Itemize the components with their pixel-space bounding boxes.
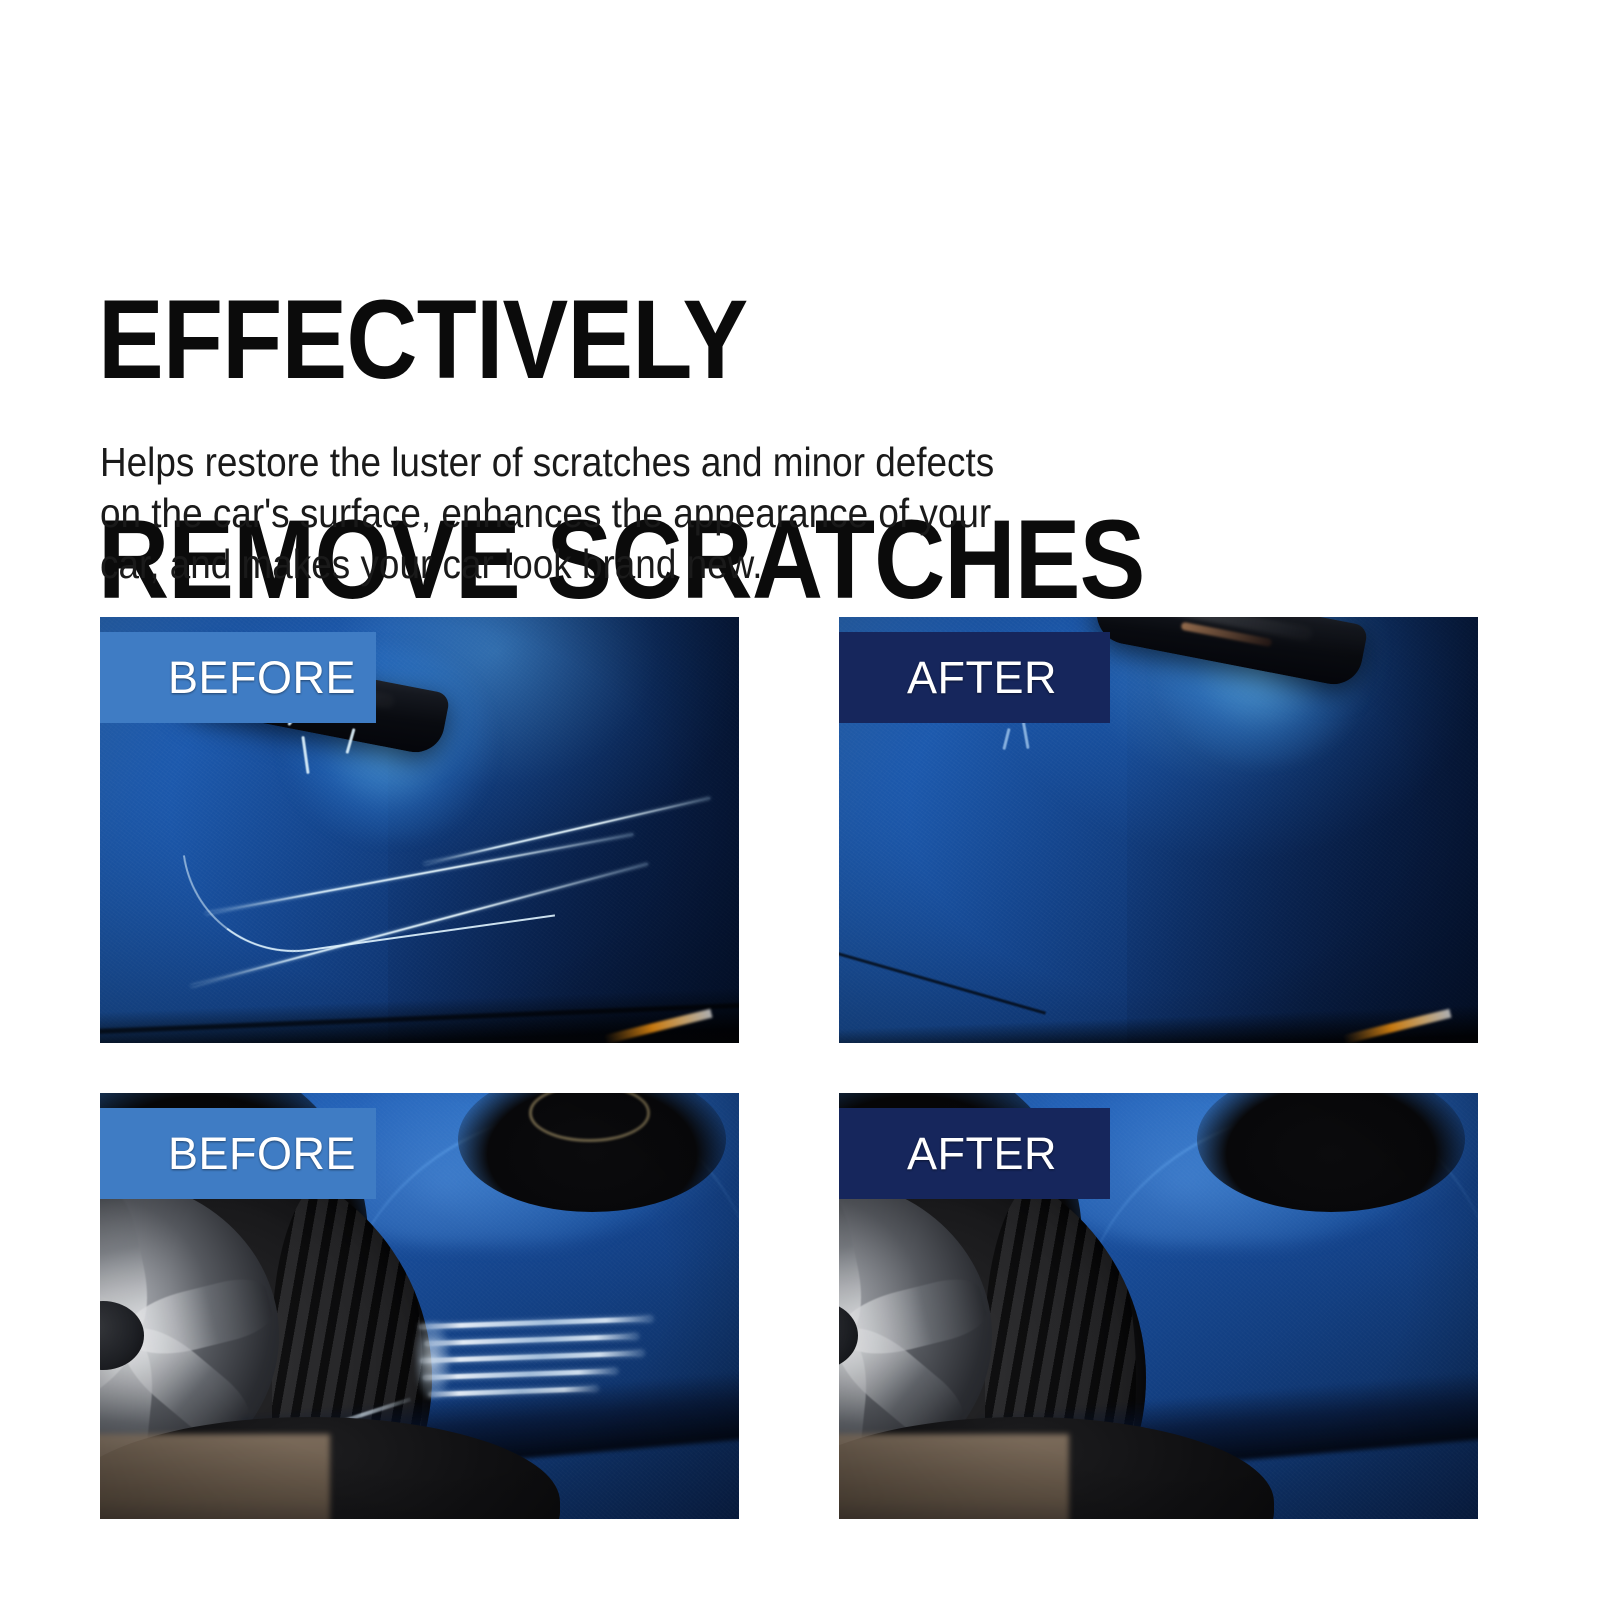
product-feature-page: EFFECTIVELY REMOVE SCRATCHES Helps resto… bbox=[0, 0, 1600, 1600]
description-line-1: Helps restore the luster of scratches an… bbox=[100, 437, 1171, 488]
label-badge-after: AFTER bbox=[839, 1108, 1110, 1199]
before-after-comparison-grid: BEFORE AFTER bbox=[100, 617, 1478, 1519]
scuff-line bbox=[423, 1368, 617, 1380]
comparison-panel-bumper-before: BEFORE bbox=[100, 1093, 739, 1519]
description-line-2: on the car's surface, enhances the appea… bbox=[100, 488, 1171, 539]
label-badge-text: BEFORE bbox=[168, 1131, 356, 1176]
label-badge-text: AFTER bbox=[907, 1131, 1057, 1176]
label-badge-text: BEFORE bbox=[168, 655, 356, 700]
comparison-panel-bumper-after: AFTER bbox=[839, 1093, 1478, 1519]
description-line-3: car, and makes your car look brand new. bbox=[100, 539, 1171, 590]
comparison-panel-door-after: AFTER bbox=[839, 617, 1478, 1043]
label-badge-before: BEFORE bbox=[100, 632, 376, 723]
scuff-line bbox=[419, 1350, 643, 1363]
ground-surface bbox=[100, 1434, 330, 1519]
scuff-line bbox=[424, 1333, 638, 1345]
label-badge-before: BEFORE bbox=[100, 1108, 376, 1199]
scuff-line bbox=[418, 1316, 652, 1329]
headline-line-1: EFFECTIVELY bbox=[98, 285, 1242, 395]
label-badge-text: AFTER bbox=[907, 655, 1057, 700]
comparison-panel-door-before: BEFORE bbox=[100, 617, 739, 1043]
ground-surface bbox=[839, 1434, 1069, 1519]
description-text: Helps restore the luster of scratches an… bbox=[100, 437, 1171, 590]
label-badge-after: AFTER bbox=[839, 632, 1110, 723]
rim-spoke bbox=[839, 1272, 990, 1364]
